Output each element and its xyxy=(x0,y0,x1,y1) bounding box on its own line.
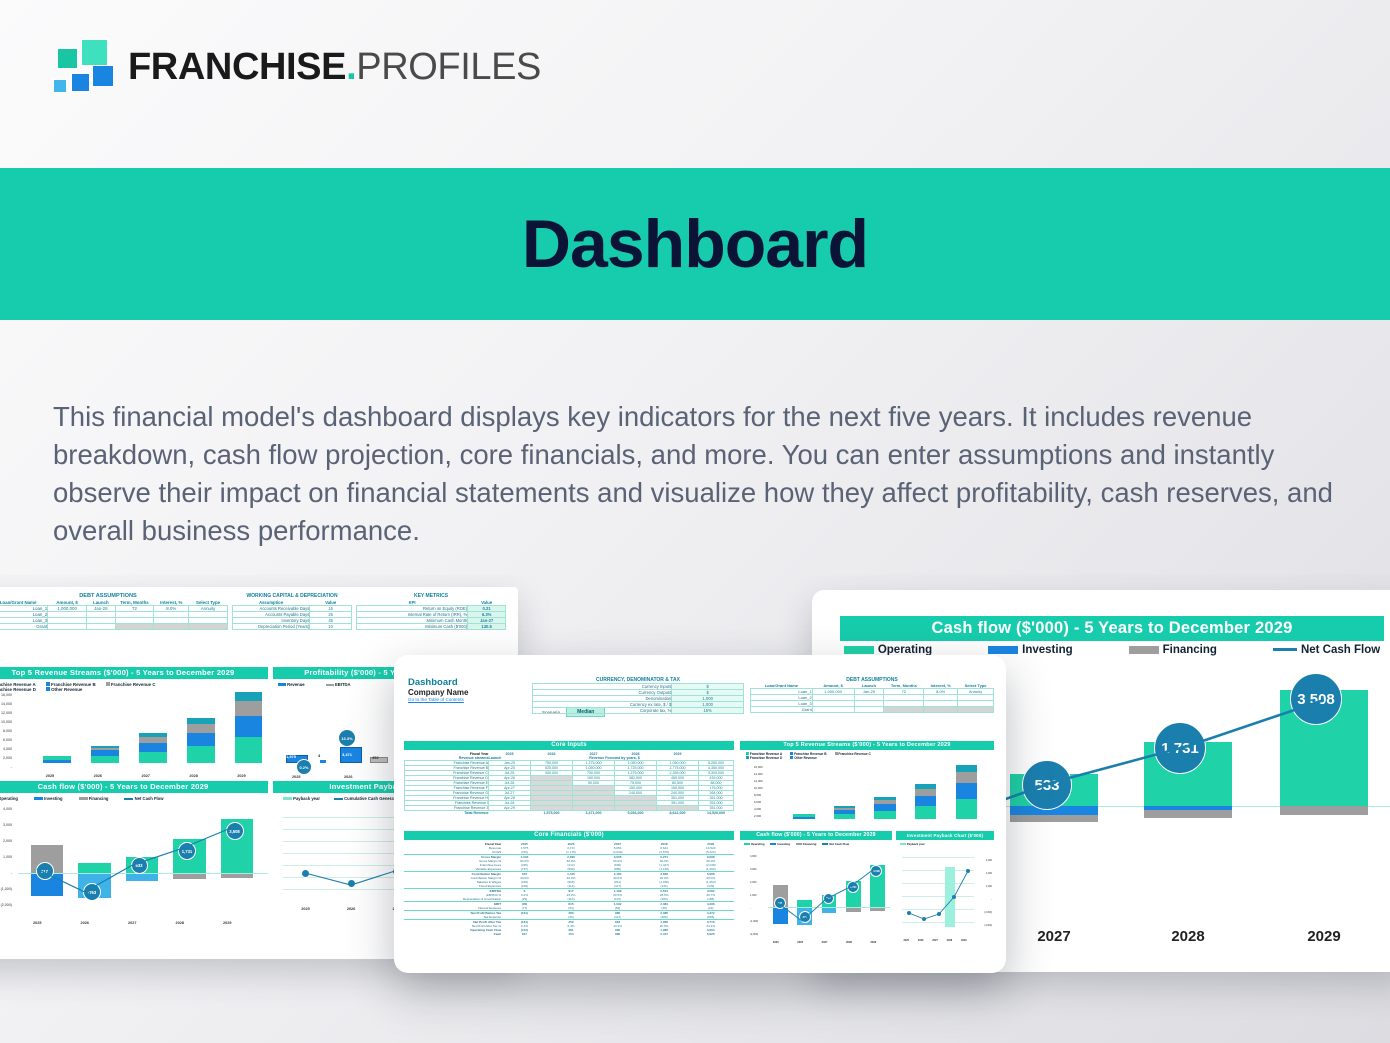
profitability-bubble: 0.2% xyxy=(296,759,312,775)
title-band: Dashboard xyxy=(0,168,1390,320)
key-metrics-table[interactable]: KPI Value Return on Equity (ROE)0.21 Int… xyxy=(356,600,506,630)
screenshot-stage: & TAX $ $ 1,000 1,000 15% DEBT ASSUMPTIO… xyxy=(0,575,1390,1043)
center-revenue-streams-title: Top 5 Revenue Streams ($'000) - 5 Years … xyxy=(740,741,994,750)
core-inputs-table[interactable]: Fiscal Year 2025 2026 2027 2028 2029 Rev… xyxy=(404,752,734,815)
x-label-2028: 2028 xyxy=(1144,928,1232,945)
brand-name-bold: FRANCHISE xyxy=(128,46,346,88)
center-net-line xyxy=(768,853,890,939)
center-revenue-legend: Franchise Revenue A Franchise Revenue B … xyxy=(746,752,990,760)
core-financials-heading: Core Financials ($'000) xyxy=(404,831,734,840)
right-chart-title: Cash flow ($'000) - 5 Years to December … xyxy=(840,616,1384,641)
center-payback-plot: 6,0004,000 2,000- (2,000)(4,000) xyxy=(900,853,992,953)
center-payback-line xyxy=(902,857,974,937)
table-row[interactable]: Minimum Cash ($'000)130.5 xyxy=(357,624,506,630)
center-card-header: Dashboard Company Name Go to the Table o… xyxy=(408,677,468,702)
squares-logo-icon xyxy=(52,38,110,96)
page-header: FRANCHISE.PROFILES xyxy=(0,0,1390,160)
table-row[interactable]: Grant xyxy=(751,707,994,713)
table-row[interactable]: Depreciation Period (Years)10 xyxy=(233,624,352,630)
table-row[interactable]: Grant xyxy=(0,624,228,630)
page-title: Dashboard xyxy=(522,205,868,283)
center-card-title: Dashboard xyxy=(408,677,468,688)
profitability-bubble: 13.3% xyxy=(338,729,356,747)
working-capital-table[interactable]: Assumption Value Accounts Receivable Day… xyxy=(232,600,352,630)
intro-paragraph: This financial model's dashboard display… xyxy=(53,398,1338,550)
table-total-row: Total Revenue 1,575,000 3,471,000 5,054,… xyxy=(405,811,734,816)
center-card-subtitle: Company Name xyxy=(408,688,468,697)
revenue-streams-legend: Franchise Revenue A Franchise Revenue B … xyxy=(0,682,266,692)
cash-flow-legend: Operating Investing Financing Net Cash F… xyxy=(0,796,268,801)
brand-dot: . xyxy=(346,46,356,88)
center-payback-title: Investment Payback Chart ($'000) xyxy=(896,831,994,840)
revenue-streams-plot: 16,000 14,000 12,000 10,000 8,000 6,000 … xyxy=(0,695,270,775)
x-label-2029: 2029 xyxy=(1280,928,1368,945)
center-debt-block: DEBT ASSUMPTIONS Loan/Grant Name Amount,… xyxy=(750,677,994,713)
x-label-2027: 2027 xyxy=(1010,928,1098,945)
currency-block: CURRENCY, DENOMINATOR & TAX Currency Inp… xyxy=(532,677,744,714)
core-inputs-heading: Core Inputs xyxy=(404,741,734,750)
center-payback-legend: Payback year xyxy=(900,842,992,846)
center-debt-table[interactable]: Loan/Grant Name Amount, $ Launch Term, M… xyxy=(750,683,994,713)
table-of-contents-link[interactable]: Go to the Table of Contents xyxy=(408,697,468,702)
table-row[interactable]: Corporate tax, %15% xyxy=(533,708,744,714)
working-capital-heading: WORKING CAPITAL & DEPRECIATION xyxy=(232,593,352,599)
center-cash-flow-legend: Operating Investing Financing Net Cash F… xyxy=(744,842,890,846)
cash-flow-plot: 4,000 3,000 2,000 1,000 - (1,000) (2,000… xyxy=(0,807,270,931)
center-cash-flow-title: Cash flow ($'000) - 5 Years to December … xyxy=(740,831,892,840)
debt-assumptions-table[interactable]: Loan/Grant Name Amount, $ Launch Term, M… xyxy=(0,600,228,630)
net-cash-flow-line xyxy=(18,807,268,919)
key-metrics-heading: KEY METRICS xyxy=(356,593,506,599)
table-row[interactable]: Cash9171546862,4175,925 xyxy=(404,932,734,936)
brand-wordmark: FRANCHISE.PROFILES xyxy=(128,46,541,89)
currency-table[interactable]: Currency Inputs$ Currency Outputs$ Denom… xyxy=(532,683,744,714)
revenue-streams-chart-title: Top 5 Revenue Streams ($'000) - 5 Years … xyxy=(0,667,268,679)
brand-logo: FRANCHISE.PROFILES xyxy=(52,38,541,96)
brand-name-light: PROFILES xyxy=(356,46,541,88)
center-revenue-plot: 16,00014,000 12,00010,000 8,0006,000 4,0… xyxy=(754,765,990,827)
center-cash-flow-plot: 4,0003,000 2,0001,000 -(1,000) (2,000) 9… xyxy=(750,853,890,953)
debt-assumptions-heading: DEBT ASSUMPTIONS xyxy=(0,593,228,599)
center-dashboard-card[interactable]: Dashboard Company Name Go to the Table o… xyxy=(394,655,1006,973)
cash-flow-chart-title: Cash flow ($'000) - 5 Years to December … xyxy=(0,781,268,793)
core-financials-table[interactable]: Fiscal Year 2025 2026 2027 2028 2029 Rev… xyxy=(404,842,734,936)
